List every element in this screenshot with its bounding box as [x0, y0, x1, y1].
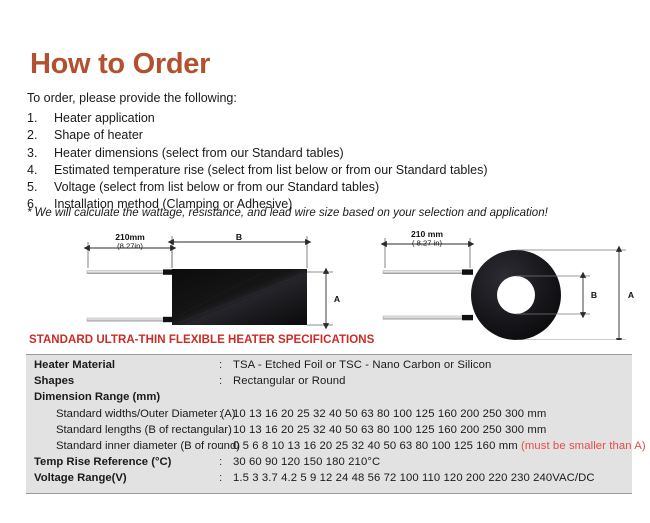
- table-row: Heater Material : TSA - Etched Foil or T…: [26, 359, 632, 375]
- row-value: Rectangular or Round: [233, 375, 632, 387]
- row-label: Dimension Range (mm): [26, 391, 219, 403]
- page-title: How to Order: [30, 50, 210, 79]
- table-row: Standard inner diameter (B of round) : 0…: [26, 440, 632, 456]
- row-value: 10 13 16 20 25 32 40 50 63 80 100 125 16…: [233, 424, 632, 436]
- table-row: Shapes : Rectangular or Round: [26, 375, 632, 391]
- table-row: Temp Rise Reference (°C) : 30 60 90 120 …: [26, 456, 632, 472]
- row-value: TSA - Etched Foil or TSC - Nano Carbon o…: [233, 359, 632, 371]
- list-item: 1. Heater application: [27, 110, 607, 127]
- row-colon: :: [219, 456, 233, 468]
- row-value: 0 5 6 8 10 13 16 20 25 32 40 50 63 80 10…: [233, 440, 646, 452]
- spec-section-header: STANDARD ULTRA-THIN FLEXIBLE HEATER SPEC…: [29, 334, 374, 346]
- rect-height-label: A: [334, 294, 340, 304]
- round-heater-diagram: 210 mm ( 8.27 in) B A: [383, 229, 634, 340]
- row-colon: :: [219, 359, 233, 371]
- row-label: Heater Material: [26, 359, 219, 371]
- inner-diameter-warning: (must be smaller than A): [521, 440, 646, 452]
- row-label: Standard inner diameter (B of round): [26, 440, 219, 452]
- round-lead-length-mm-label: 210 mm: [411, 229, 443, 239]
- list-item-number: 4.: [27, 162, 54, 179]
- list-item-number: 3.: [27, 145, 54, 162]
- spec-table: Heater Material : TSA - Etched Foil or T…: [26, 354, 632, 494]
- row-colon: :: [219, 424, 233, 436]
- rect-lead-length-mm-label: 210mm: [115, 232, 145, 242]
- page-root: How to Order To order, please provide th…: [0, 0, 650, 523]
- list-item-label: Heater application: [54, 110, 155, 127]
- calculation-note: * We will calculate the wattage, resista…: [27, 207, 548, 219]
- round-inner-diameter-label: B: [591, 290, 597, 300]
- list-item-number: 1.: [27, 110, 54, 127]
- row-label: Voltage Range(V): [26, 472, 219, 484]
- intro-text: To order, please provide the following:: [27, 92, 237, 106]
- table-row: Dimension Range (mm): [26, 391, 632, 407]
- list-item: 4. Estimated temperature rise (select fr…: [27, 162, 607, 179]
- list-item-number: 5.: [27, 179, 54, 196]
- list-item-label: Voltage (select from list below or from …: [54, 179, 379, 196]
- table-row: Standard widths/Outer Diameter (A) : 10 …: [26, 408, 632, 424]
- rectangular-heater-diagram: 210mm (8.27in) B A: [87, 232, 340, 325]
- round-outer-diameter-label: A: [628, 290, 634, 300]
- list-item-label: Shape of heater: [54, 127, 143, 144]
- row-value: 30 60 90 120 150 180 210°C: [233, 456, 632, 468]
- row-label: Standard widths/Outer Diameter (A): [26, 408, 219, 420]
- list-item-label: Estimated temperature rise (select from …: [54, 162, 488, 179]
- list-item: 5. Voltage (select from list below or fr…: [27, 179, 607, 196]
- row-value: 1.5 3 3.7 4.2 5 9 12 24 48 56 72 100 110…: [233, 472, 632, 484]
- row-colon: :: [219, 375, 233, 387]
- list-item: 3. Heater dimensions (select from our St…: [27, 145, 607, 162]
- list-item-number: 2.: [27, 127, 54, 144]
- row-colon: :: [219, 472, 233, 484]
- row-label: Shapes: [26, 375, 219, 387]
- round-lead-length-in-label: ( 8.27 in): [412, 239, 442, 248]
- row-value-text: 0 5 6 8 10 13 16 20 25 32 40 50 63 80 10…: [233, 440, 521, 452]
- row-value: 10 13 16 20 25 32 40 50 63 80 100 125 16…: [233, 408, 632, 420]
- rect-lead-length-in-label: (8.27in): [117, 242, 143, 251]
- table-row: Standard lengths (B of rectangular) : 10…: [26, 424, 632, 440]
- rect-width-label: B: [236, 232, 242, 242]
- list-item-label: Heater dimensions (select from our Stand…: [54, 145, 344, 162]
- list-item: 2. Shape of heater: [27, 127, 607, 144]
- heater-diagrams: 210mm (8.27in) B A: [0, 228, 650, 340]
- row-label: Standard lengths (B of rectangular): [26, 424, 219, 436]
- order-steps-list: 1. Heater application 2. Shape of heater…: [27, 110, 607, 214]
- table-row: Voltage Range(V) : 1.5 3 3.7 4.2 5 9 12 …: [26, 472, 632, 488]
- row-label: Temp Rise Reference (°C): [26, 456, 219, 468]
- row-colon: :: [219, 408, 233, 420]
- row-colon: :: [219, 440, 233, 452]
